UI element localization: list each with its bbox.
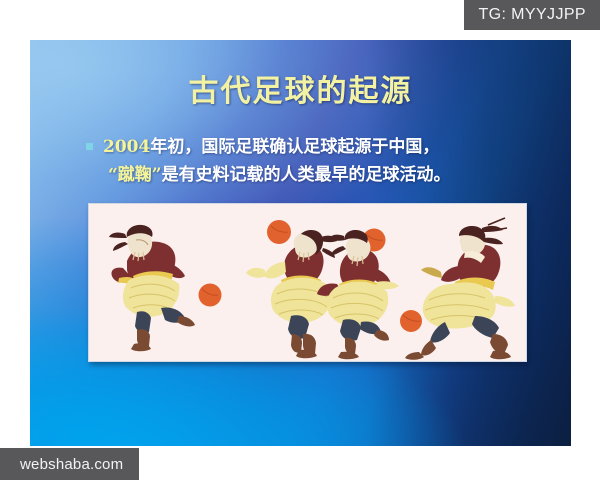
page-canvas: 古代足球的起源 2004年初，国际足联确认足球起源于中国， “蹴鞠”是有史料记载… [0, 0, 600, 480]
cuju-illustration-frame [88, 203, 527, 362]
slide-body: 2004年初，国际足联确认足球起源于中国， “蹴鞠”是有史料记载的人类最早的足球… [86, 133, 556, 189]
bullet-line-2-open-quote: “ [108, 165, 118, 185]
bullet-line-2-highlight: 蹴鞠 [118, 165, 152, 185]
bullet-line-1-highlight: 2004 [103, 137, 150, 157]
bullet-line-2-text: 是有史料记载的人类最早的足球活动。 [162, 165, 451, 185]
bullet-line-2: “蹴鞠”是有史料记载的人类最早的足球活动。 [86, 161, 556, 189]
site-watermark: webshaba.com [0, 448, 139, 480]
square-bullet-icon [86, 143, 93, 150]
telegram-watermark: TG: MYYJJPP [464, 0, 600, 30]
presentation-slide: 古代足球的起源 2004年初，国际足联确认足球起源于中国， “蹴鞠”是有史料记载… [30, 40, 571, 446]
bullet-line-2-close-quote: ” [152, 165, 162, 185]
slide-title: 古代足球的起源 [30, 66, 571, 110]
cuju-illustration [89, 204, 526, 361]
bullet-line-1-text: 年初，国际足联确认足球起源于中国， [150, 137, 439, 157]
bullet-line-1: 2004年初，国际足联确认足球起源于中国， [86, 133, 556, 161]
